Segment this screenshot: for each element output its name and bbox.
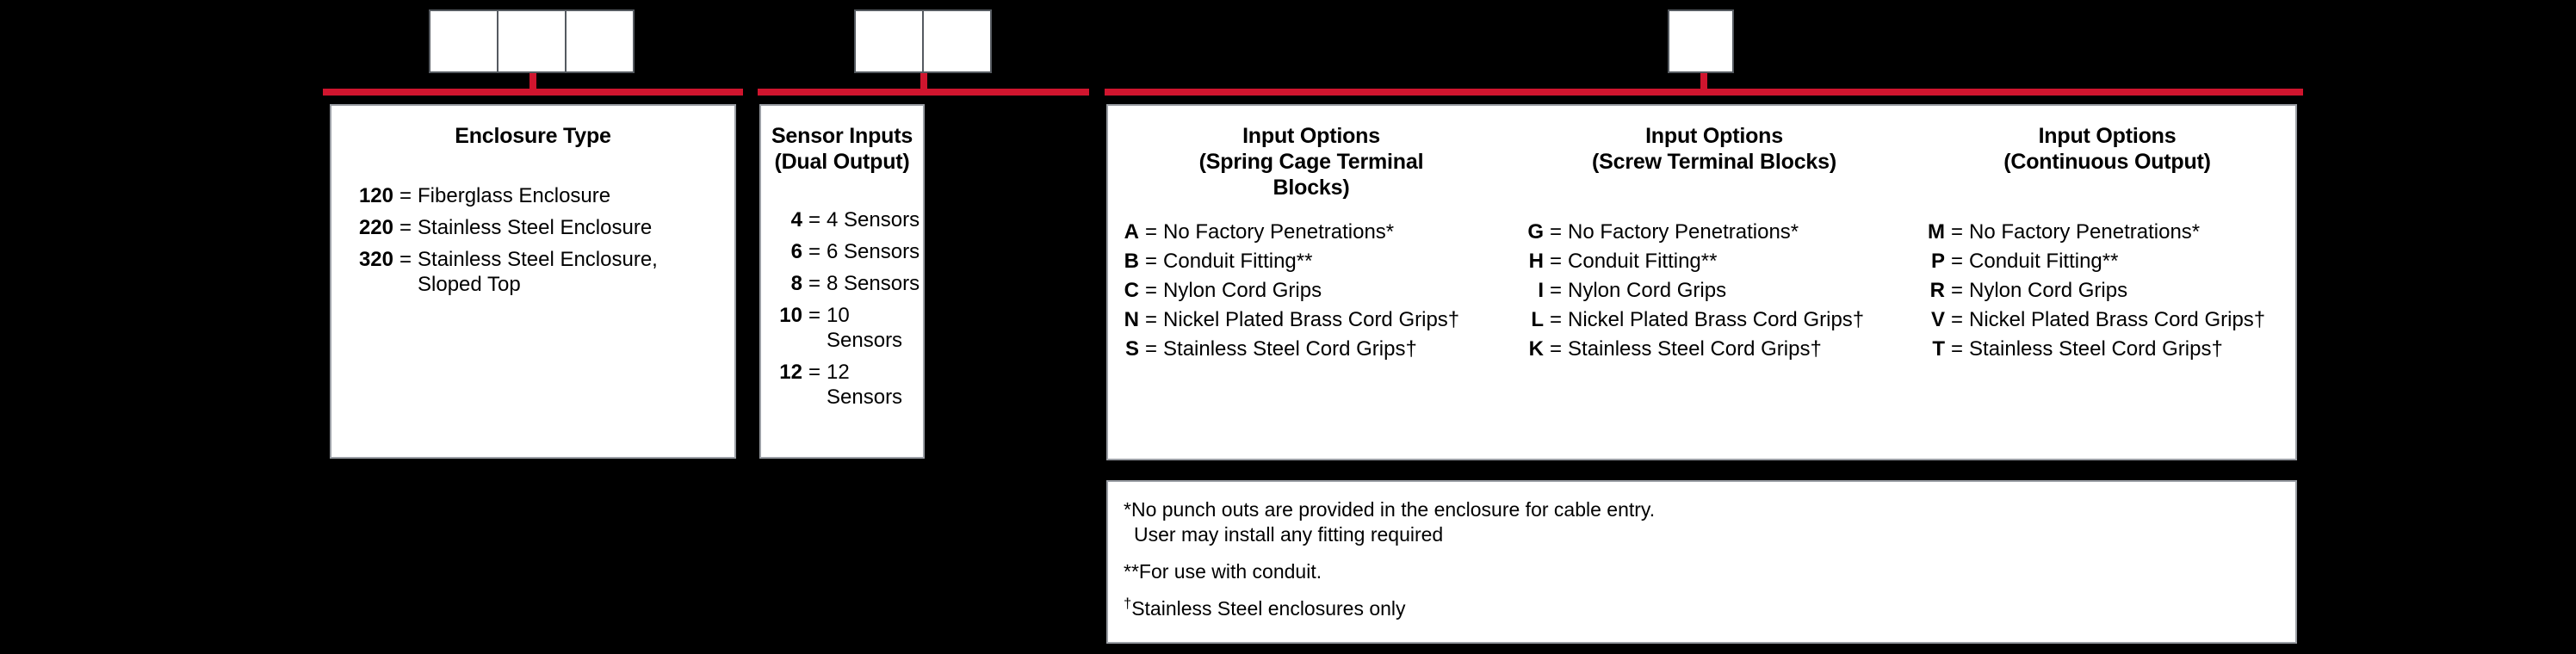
column-screw-terminal-title: Input Options (Screw Terminal Blocks) bbox=[1525, 123, 1904, 201]
footnote-2-mark: ** bbox=[1124, 560, 1139, 583]
footnote-1-line2: User may install any fitting required bbox=[1124, 522, 2276, 547]
column-continuous-output-title: Input Options (Continuous Output) bbox=[1926, 123, 2288, 201]
list-item[interactable]: 12 = 12 Sensors bbox=[773, 360, 923, 410]
list-item[interactable]: 320 = Stainless Steel Enclosure, Sloped … bbox=[345, 247, 726, 297]
option-equals: = bbox=[1945, 278, 1969, 303]
option-equals: = bbox=[1945, 336, 1969, 361]
option-code: 220 bbox=[345, 215, 393, 240]
option-code: R bbox=[1926, 278, 1945, 303]
option-description: 10 Sensors bbox=[827, 303, 923, 353]
footnote-2-text: For use with conduit. bbox=[1139, 560, 1322, 583]
option-description: 6 Sensors bbox=[827, 239, 923, 264]
option-equals: = bbox=[802, 360, 827, 385]
option-equals: = bbox=[393, 247, 418, 272]
list-item[interactable]: N = Nickel Plated Brass Cord Grips† bbox=[1120, 307, 1502, 332]
footnote-3: †Stainless Steel enclosures only bbox=[1124, 596, 2276, 621]
option-code: 8 bbox=[773, 271, 802, 296]
continuous-output-option-list: M = No Factory Penetrations* P = Conduit… bbox=[1926, 219, 2288, 361]
option-description: Stainless Steel Enclosure, Sloped Top bbox=[418, 247, 726, 297]
option-code: N bbox=[1120, 307, 1139, 332]
option-equals: = bbox=[1139, 307, 1163, 332]
list-item[interactable]: C = Nylon Cord Grips bbox=[1120, 278, 1502, 303]
column-spring-cage-title-line2: (Spring Cage Terminal bbox=[1120, 149, 1502, 175]
panel-footnotes: *No punch outs are provided in the enclo… bbox=[1106, 480, 2297, 644]
list-item[interactable]: P = Conduit Fitting** bbox=[1926, 249, 2288, 274]
option-description: No Factory Penetrations* bbox=[1163, 219, 1502, 244]
footnote-3-text: Stainless Steel enclosures only bbox=[1131, 597, 1405, 620]
list-item[interactable]: M = No Factory Penetrations* bbox=[1926, 219, 2288, 244]
panel-enclosure-type-title: Enclosure Type bbox=[331, 123, 734, 149]
list-item[interactable]: B = Conduit Fitting** bbox=[1120, 249, 1502, 274]
list-item[interactable]: H = Conduit Fitting** bbox=[1525, 249, 1904, 274]
screw-terminal-option-list: G = No Factory Penetrations* H = Conduit… bbox=[1525, 219, 1904, 361]
option-equals: = bbox=[1544, 249, 1568, 274]
list-item[interactable]: I = Nylon Cord Grips bbox=[1525, 278, 1904, 303]
option-description: Stainless Steel Cord Grips† bbox=[1568, 336, 1904, 361]
option-equals: = bbox=[802, 271, 827, 296]
option-description: Stainless Steel Enclosure bbox=[418, 215, 726, 240]
option-description: No Factory Penetrations* bbox=[1969, 219, 2288, 244]
spring-cage-option-list: A = No Factory Penetrations* B = Conduit… bbox=[1120, 219, 1502, 361]
option-equals: = bbox=[1139, 336, 1163, 361]
enclosure-type-code-boxes bbox=[429, 9, 635, 73]
column-continuous-output-title-line2: (Continuous Output) bbox=[1926, 149, 2288, 175]
panel-sensor-inputs-title: Sensor Inputs (Dual Output) bbox=[761, 123, 923, 175]
list-item[interactable]: 220 = Stainless Steel Enclosure bbox=[345, 215, 726, 240]
option-equals: = bbox=[393, 215, 418, 240]
sensor-inputs-option-list: 4 = 4 Sensors 6 = 6 Sensors 8 = 8 Sensor… bbox=[761, 207, 923, 410]
part-number-configurator-diagram: Enclosure Type 120 = Fiberglass Enclosur… bbox=[0, 0, 2576, 654]
option-description: Nylon Cord Grips bbox=[1969, 278, 2288, 303]
column-screw-terminal-title-line1: Input Options bbox=[1525, 123, 1904, 149]
option-code: P bbox=[1926, 249, 1945, 274]
column-continuous-output: Input Options (Continuous Output) M = No… bbox=[1914, 106, 2299, 459]
panel-input-options: Input Options (Spring Cage Terminal Bloc… bbox=[1106, 104, 2297, 460]
panel-enclosure-type: Enclosure Type 120 = Fiberglass Enclosur… bbox=[330, 104, 736, 459]
option-code: L bbox=[1525, 307, 1544, 332]
option-code: 6 bbox=[773, 239, 802, 264]
column-spring-cage-terminal-blocks: Input Options (Spring Cage Terminal Bloc… bbox=[1108, 106, 1513, 459]
panel-sensor-inputs-title-line2: (Dual Output) bbox=[761, 149, 923, 175]
list-item[interactable]: 8 = 8 Sensors bbox=[773, 271, 923, 296]
code-cell-enclosure-3[interactable] bbox=[565, 9, 635, 73]
list-item[interactable]: K = Stainless Steel Cord Grips† bbox=[1525, 336, 1904, 361]
sensor-inputs-code-boxes bbox=[854, 9, 992, 73]
column-spring-cage-title-line3: Blocks) bbox=[1120, 175, 1502, 201]
option-description: 4 Sensors bbox=[827, 207, 923, 232]
option-description: Conduit Fitting** bbox=[1163, 249, 1502, 274]
list-item[interactable]: 4 = 4 Sensors bbox=[773, 207, 923, 232]
column-continuous-output-title-line1: Input Options bbox=[1926, 123, 2288, 149]
code-cell-sensors-2[interactable] bbox=[922, 9, 992, 73]
list-item[interactable]: S = Stainless Steel Cord Grips† bbox=[1120, 336, 1502, 361]
option-code: A bbox=[1120, 219, 1139, 244]
list-item[interactable]: 6 = 6 Sensors bbox=[773, 239, 923, 264]
column-spring-cage-title: Input Options (Spring Cage Terminal Bloc… bbox=[1120, 123, 1502, 201]
option-equals: = bbox=[1945, 219, 1969, 244]
option-description: Nylon Cord Grips bbox=[1163, 278, 1502, 303]
option-description: Stainless Steel Cord Grips† bbox=[1163, 336, 1502, 361]
option-equals: = bbox=[1544, 219, 1568, 244]
option-code: G bbox=[1525, 219, 1544, 244]
list-item[interactable]: G = No Factory Penetrations* bbox=[1525, 219, 1904, 244]
option-code: V bbox=[1926, 307, 1945, 332]
list-item[interactable]: V = Nickel Plated Brass Cord Grips† bbox=[1926, 307, 2288, 332]
list-item[interactable]: L = Nickel Plated Brass Cord Grips† bbox=[1525, 307, 1904, 332]
option-description: Nylon Cord Grips bbox=[1568, 278, 1904, 303]
code-cell-enclosure-2[interactable] bbox=[497, 9, 567, 73]
option-equals: = bbox=[393, 183, 418, 208]
option-description: Fiberglass Enclosure bbox=[418, 183, 726, 208]
panel-sensor-inputs: Sensor Inputs (Dual Output) 4 = 4 Sensor… bbox=[759, 104, 925, 459]
option-code: C bbox=[1120, 278, 1139, 303]
list-item[interactable]: R = Nylon Cord Grips bbox=[1926, 278, 2288, 303]
code-cell-enclosure-1[interactable] bbox=[429, 9, 498, 73]
option-code: T bbox=[1926, 336, 1945, 361]
option-description: 8 Sensors bbox=[827, 271, 923, 296]
column-screw-terminal-title-line2: (Screw Terminal Blocks) bbox=[1525, 149, 1904, 175]
option-code: M bbox=[1926, 219, 1945, 244]
connector-rail-sensors bbox=[758, 89, 1089, 96]
option-equals: = bbox=[1945, 307, 1969, 332]
option-description: Conduit Fitting** bbox=[1969, 249, 2288, 274]
option-description: 12 Sensors bbox=[827, 360, 923, 410]
option-equals: = bbox=[1139, 249, 1163, 274]
option-description: Nickel Plated Brass Cord Grips† bbox=[1969, 307, 2288, 332]
footnote-1-mark: * bbox=[1124, 498, 1131, 521]
enclosure-type-option-list: 120 = Fiberglass Enclosure 220 = Stainle… bbox=[331, 183, 734, 297]
option-equals: = bbox=[802, 303, 827, 328]
option-equals: = bbox=[1544, 336, 1568, 361]
column-continuous-output-title-line3 bbox=[1926, 175, 2288, 201]
option-description: Nickel Plated Brass Cord Grips† bbox=[1163, 307, 1502, 332]
option-code: B bbox=[1120, 249, 1139, 274]
option-description: Nickel Plated Brass Cord Grips† bbox=[1568, 307, 1904, 332]
option-code: S bbox=[1120, 336, 1139, 361]
connector-rail-options bbox=[1105, 89, 2303, 96]
footnote-3-mark: † bbox=[1124, 595, 1131, 611]
list-item[interactable]: 120 = Fiberglass Enclosure bbox=[345, 183, 726, 208]
option-equals: = bbox=[1945, 249, 1969, 274]
option-equals: = bbox=[1139, 219, 1163, 244]
column-screw-terminal-blocks: Input Options (Screw Terminal Blocks) G … bbox=[1513, 106, 1914, 459]
list-item[interactable]: A = No Factory Penetrations* bbox=[1120, 219, 1502, 244]
option-code: H bbox=[1525, 249, 1544, 274]
footnote-1: *No punch outs are provided in the enclo… bbox=[1124, 497, 2276, 547]
input-options-code-boxes bbox=[1668, 9, 1734, 73]
option-description: No Factory Penetrations* bbox=[1568, 219, 1904, 244]
panel-sensor-inputs-title-line1: Sensor Inputs bbox=[761, 123, 923, 149]
code-cell-options-1[interactable] bbox=[1668, 9, 1734, 73]
option-code: K bbox=[1525, 336, 1544, 361]
option-equals: = bbox=[802, 207, 827, 232]
footnote-2: **For use with conduit. bbox=[1124, 559, 2276, 584]
option-code: 320 bbox=[345, 247, 393, 272]
code-cell-sensors-1[interactable] bbox=[854, 9, 924, 73]
footnote-1-line1: No punch outs are provided in the enclos… bbox=[1131, 498, 1655, 521]
option-code: 120 bbox=[345, 183, 393, 208]
option-equals: = bbox=[1544, 307, 1568, 332]
connector-rail-enclosure bbox=[323, 89, 743, 96]
list-item[interactable]: T = Stainless Steel Cord Grips† bbox=[1926, 336, 2288, 361]
option-description: Stainless Steel Cord Grips† bbox=[1969, 336, 2288, 361]
option-code: 12 bbox=[773, 360, 802, 385]
option-equals: = bbox=[1139, 278, 1163, 303]
column-screw-terminal-title-line3 bbox=[1525, 175, 1904, 201]
option-equals: = bbox=[1544, 278, 1568, 303]
column-spring-cage-title-line1: Input Options bbox=[1120, 123, 1502, 149]
list-item[interactable]: 10 = 10 Sensors bbox=[773, 303, 923, 353]
option-code: 10 bbox=[773, 303, 802, 328]
option-description: Conduit Fitting** bbox=[1568, 249, 1904, 274]
option-code: I bbox=[1525, 278, 1544, 303]
option-equals: = bbox=[802, 239, 827, 264]
option-code: 4 bbox=[773, 207, 802, 232]
